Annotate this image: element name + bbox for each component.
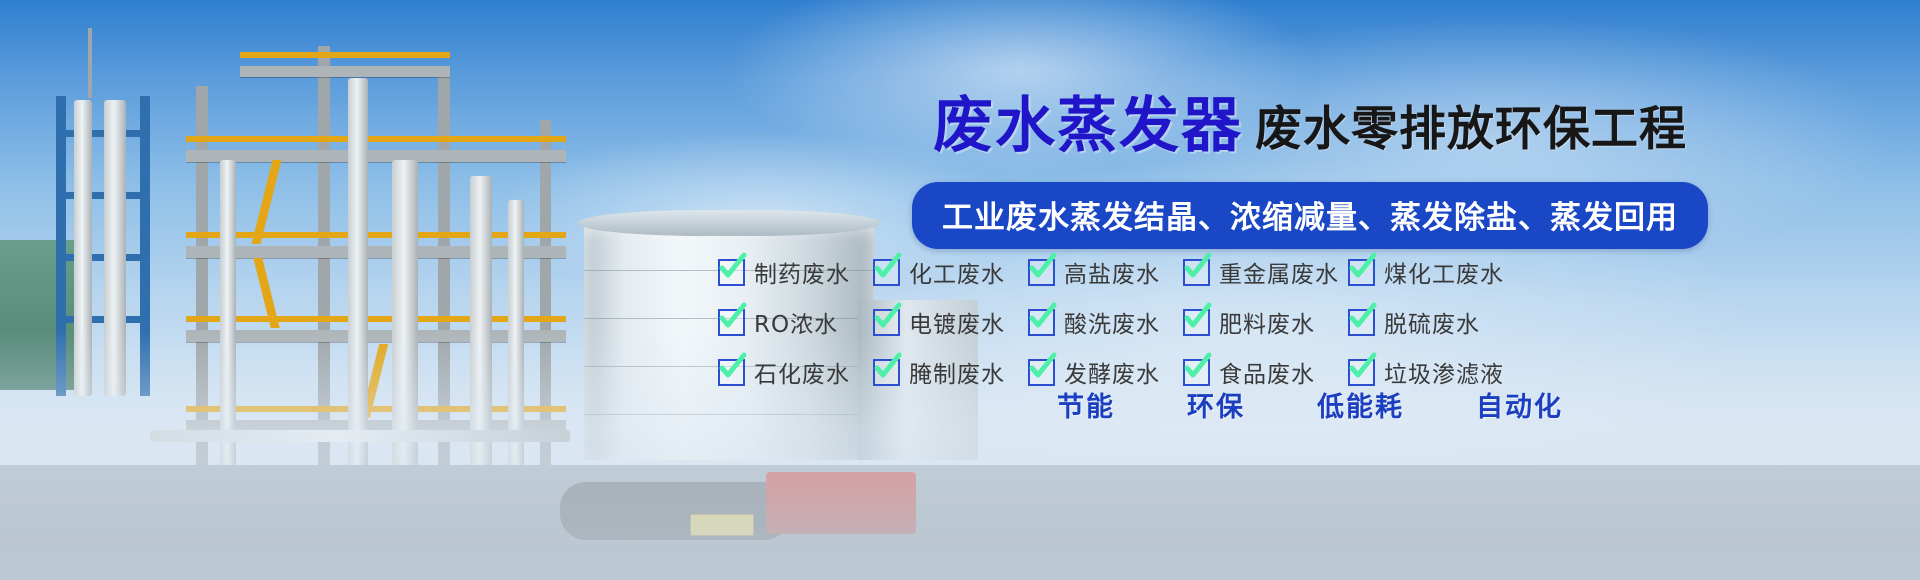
keyword: 自动化 [1476,385,1563,424]
checklist-row: RO浓水电镀废水酸洗废水肥料废水脱硫废水 [718,305,1918,339]
checklist-item-label: 高盐废水 [1064,255,1160,289]
keyword: 环保 [1187,385,1245,424]
tower-beam [56,192,150,199]
checklist-item[interactable]: 食品废水 [1183,355,1348,389]
safety-railing [186,136,566,142]
checklist-item[interactable]: 酸洗废水 [1028,305,1183,339]
checkbox-checked-icon[interactable] [1348,259,1375,286]
banner-content: 废水蒸发器 废水零排放环保工程 工业废水蒸发结晶、浓缩减量、蒸发除盐、蒸发回用 … [700,0,1920,580]
headline-primary: 废水蒸发器 [933,96,1243,156]
platform-deck [186,150,566,162]
checklist-item[interactable]: 化工废水 [873,255,1028,289]
checklist-item-label: 电镀废水 [909,305,1005,339]
checkbox-checked-icon[interactable] [718,259,745,286]
checklist-item[interactable]: 煤化工废水 [1348,255,1513,289]
safety-railing [240,52,450,58]
checkbox-checked-icon[interactable] [1028,259,1055,286]
checklist-item[interactable]: 发酵废水 [1028,355,1183,389]
checkbox-checked-icon[interactable] [873,359,900,386]
checkbox-checked-icon[interactable] [873,309,900,336]
checkbox-checked-icon[interactable] [718,359,745,386]
checklist-row: 制药废水化工废水高盐废水重金属废水煤化工废水 [718,255,1918,289]
checklist-item[interactable]: 制药废水 [718,255,873,289]
checklist-item-label: 腌制废水 [909,355,1005,389]
application-checklist: 制药废水化工废水高盐废水重金属废水煤化工废水RO浓水电镀废水酸洗废水肥料废水脱硫… [718,255,1918,389]
checklist-item[interactable]: 石化废水 [718,355,873,389]
checklist-item-label: 肥料废水 [1219,305,1315,339]
checklist-item[interactable]: 肥料废水 [1183,305,1348,339]
checkbox-checked-icon[interactable] [1183,309,1210,336]
tower-beam [56,130,150,137]
checkbox-checked-icon[interactable] [1348,309,1375,336]
checklist-item-label: 制药废水 [754,255,850,289]
checklist-item[interactable]: 重金属废水 [1183,255,1348,289]
checklist-item-label: RO浓水 [754,305,838,339]
checkbox-checked-icon[interactable] [873,259,900,286]
checklist-item[interactable]: 高盐废水 [1028,255,1183,289]
checkbox-checked-icon[interactable] [1348,359,1375,386]
headline-secondary: 废水零排放环保工程 [1255,106,1687,156]
checklist-item-label: 重金属废水 [1219,255,1339,289]
antenna-mast [88,28,92,98]
checklist-item[interactable]: 腌制废水 [873,355,1028,389]
checklist-item[interactable]: 脱硫废水 [1348,305,1513,339]
checklist-item-label: 食品废水 [1219,355,1315,389]
checkbox-checked-icon[interactable] [1028,309,1055,336]
checklist-item-label: 石化废水 [754,355,850,389]
tower-beam [56,316,150,323]
checklist-item-label: 酸洗废水 [1064,305,1160,339]
keyword: 节能 [1057,385,1115,424]
checklist-item-label: 发酵废水 [1064,355,1160,389]
checklist-item-label: 化工废水 [909,255,1005,289]
checkbox-checked-icon[interactable] [718,309,745,336]
tower-beam [56,254,150,261]
promo-banner: 废水蒸发器 废水零排放环保工程 工业废水蒸发结晶、浓缩减量、蒸发除盐、蒸发回用 … [0,0,1920,580]
keyword-row: 节能环保低能耗自动化 [700,385,1920,424]
checklist-item-label: 垃圾渗滤液 [1384,355,1504,389]
checkbox-checked-icon[interactable] [1028,359,1055,386]
checklist-item[interactable]: 电镀废水 [873,305,1028,339]
headline-row: 废水蒸发器 废水零排放环保工程 [700,96,1920,156]
platform-deck [240,66,450,77]
tagline-pill: 工业废水蒸发结晶、浓缩减量、蒸发除盐、蒸发回用 [912,182,1708,249]
checklist-item-label: 煤化工废水 [1384,255,1504,289]
checklist-item[interactable]: RO浓水 [718,305,873,339]
tagline-pill-wrapper: 工业废水蒸发结晶、浓缩减量、蒸发除盐、蒸发回用 [700,182,1920,249]
checklist-item-label: 脱硫废水 [1384,305,1480,339]
checklist-item[interactable]: 垃圾渗滤液 [1348,355,1513,389]
keyword: 低能耗 [1317,385,1404,424]
checklist-row: 石化废水腌制废水发酵废水食品废水垃圾渗滤液 [718,355,1918,389]
checkbox-checked-icon[interactable] [1183,359,1210,386]
checkbox-checked-icon[interactable] [1183,259,1210,286]
